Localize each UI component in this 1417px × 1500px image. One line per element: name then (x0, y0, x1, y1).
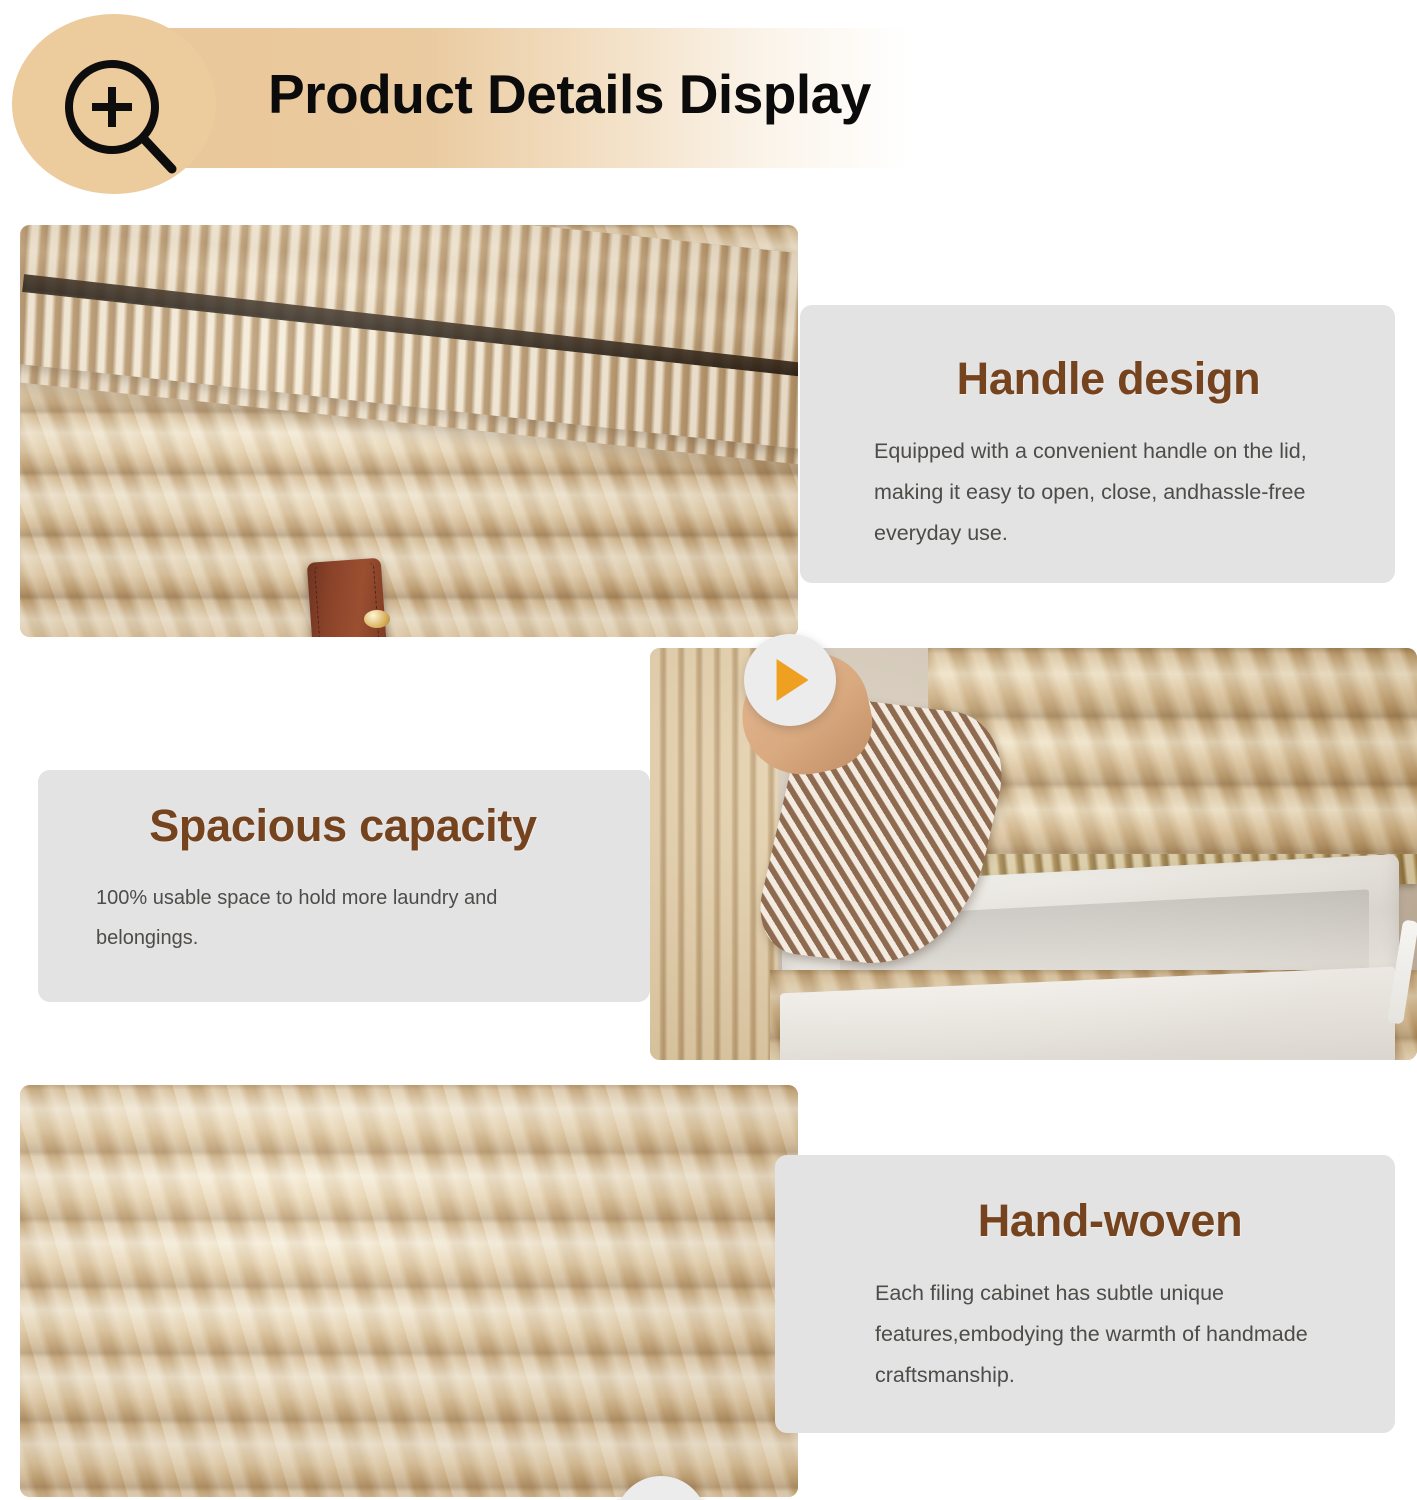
feature-row-hand-woven: Hand-woven Each filing cabinet has subtl… (0, 1085, 1417, 1497)
rivet (364, 610, 390, 628)
feature-image-handle-design (20, 225, 798, 637)
feature-card-hand-woven: Hand-woven Each filing cabinet has subtl… (775, 1155, 1395, 1433)
feature-title: Spacious capacity (96, 800, 590, 852)
feature-description: Each filing cabinet has subtle unique fe… (875, 1273, 1345, 1396)
feature-description: Equipped with a convenient handle on the… (874, 431, 1343, 554)
feature-image-hand-woven (20, 1085, 798, 1497)
page-header: Product Details Display (0, 0, 1417, 200)
feature-row-spacious-capacity: Spacious capacity 100% usable space to h… (0, 648, 1417, 1060)
page-title: Product Details Display (268, 62, 871, 126)
feature-title: Handle design (874, 353, 1343, 405)
feature-card-handle-design: Handle design Equipped with a convenient… (800, 305, 1395, 583)
magnifier-plus-icon (54, 52, 186, 184)
triangle-right-icon[interactable] (744, 634, 836, 726)
product-details-page: Product Details Display Handle design Eq… (0, 0, 1417, 1500)
feature-row-handle-design: Handle design Equipped with a convenient… (0, 225, 1417, 637)
feature-card-spacious-capacity: Spacious capacity 100% usable space to h… (38, 770, 650, 1002)
header-badge (12, 14, 216, 194)
feature-title: Hand-woven (875, 1195, 1345, 1247)
feature-description: 100% usable space to hold more laundry a… (96, 878, 590, 958)
